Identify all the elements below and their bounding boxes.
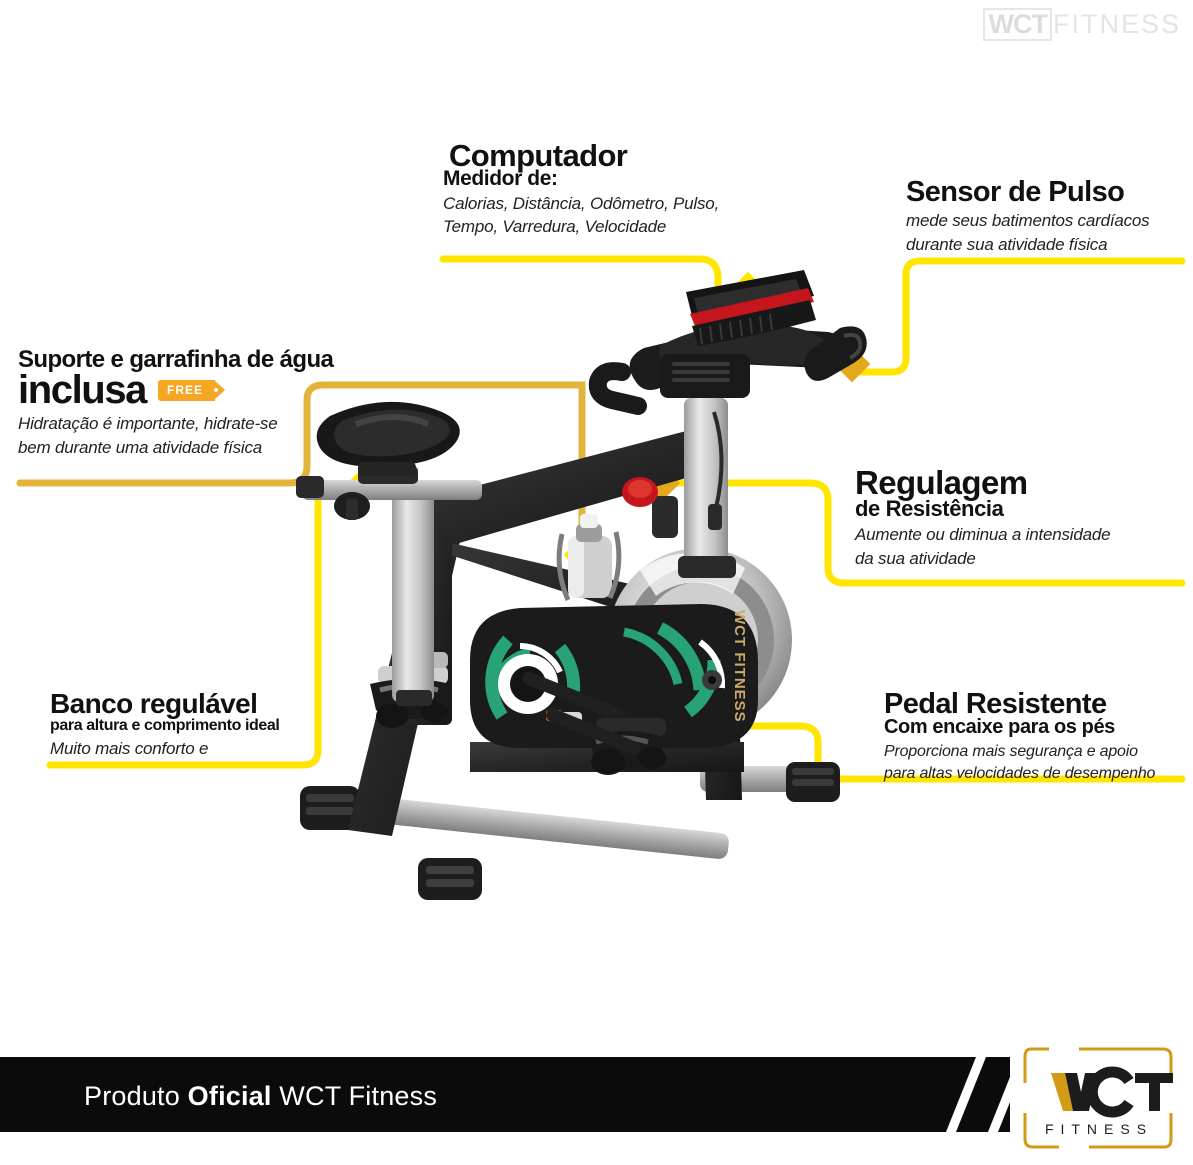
bike-frame-badge: WCT FITNESS <box>731 610 748 723</box>
callout-pedal-title: Pedal Resistente <box>884 690 1184 719</box>
callout-suporte-desc-1: Hidratação é importante, hidrate-se <box>18 413 388 434</box>
callout-pedal-subtitle: Com encaixe para os pés <box>884 717 1184 739</box>
watermark-logo-bold: WCT <box>983 8 1052 41</box>
callout-computador-desc-2: Tempo, Varredura, Velocidade <box>443 216 743 237</box>
bike-handlebar <box>598 324 867 406</box>
callout-regulagem-title: Regulagem <box>855 466 1175 499</box>
footer-text: Produto Oficial WCT Fitness <box>84 1081 437 1112</box>
marker-sensor <box>834 346 871 383</box>
footer-logo-sub: FITNESS <box>1045 1121 1153 1137</box>
connector-computador <box>443 259 718 298</box>
callout-suporte-desc-2: bem durante uma atividade física <box>18 437 388 458</box>
callout-computador-desc-1: Calorias, Distância, Odômetro, Pulso, <box>443 193 743 214</box>
svg-text:WCT FITNESS: WCT FITNESS <box>731 610 748 723</box>
bike-base-front <box>300 786 730 900</box>
callout-sensor-desc-1: mede seus batimentos cardíacos <box>906 210 1186 231</box>
bike-handle-post <box>622 398 736 578</box>
connector-sensor <box>860 261 1182 372</box>
marker-computador <box>727 272 769 314</box>
callout-banco-regulavel: Banco regulável para altura e compriment… <box>50 690 350 759</box>
callout-sensor-title: Sensor de Pulso <box>906 178 1186 207</box>
marker-banco <box>348 465 385 502</box>
bike-pedal-right <box>520 670 666 775</box>
bike-water-bottle <box>559 514 619 600</box>
bike-computer-console <box>686 270 816 346</box>
bike-frame <box>348 430 744 836</box>
infographic-page: WCT FITNESS .ly { fill:none; stroke:#FFE… <box>0 0 1193 1165</box>
callout-sensor-desc-2: durante sua atividade física <box>906 234 1186 255</box>
callout-banco-desc-1: Muito mais conforto e <box>50 738 350 759</box>
callout-banco-subtitle: para altura e comprimento ideal <box>50 717 350 734</box>
callout-regulagem-resistencia: Regulagem de Resistência Aumente ou dimi… <box>855 466 1175 569</box>
callout-computador: Computador Medidor de: Calorias, Distânc… <box>443 140 743 237</box>
callout-sensor-de-pulso: Sensor de Pulso mede seus batimentos car… <box>906 178 1186 255</box>
callout-pedal-desc-2: para altas velocidades de desempenho <box>884 764 1184 784</box>
callout-banco-title: Banco regulável <box>50 690 350 718</box>
footer: Produto Oficial WCT Fitness FITNESS <box>0 1025 1193 1165</box>
bike-pedal-left <box>370 652 642 756</box>
marker-regulagem <box>638 462 680 504</box>
callout-regulagem-desc-1: Aumente ou diminua a intensidade <box>855 524 1175 545</box>
bike-seat-post <box>296 466 482 706</box>
free-badge: FREE <box>158 380 215 401</box>
callout-suporte-highlight: inclusa <box>18 370 146 410</box>
bike-chain-guard <box>470 604 758 748</box>
callout-regulagem-desc-2: da sua atividade <box>855 548 1175 569</box>
watermark-logo: WCT FITNESS <box>983 8 1182 41</box>
footer-text-pre: Produto <box>84 1081 188 1111</box>
callout-pedal-desc-1: Proporciona mais segurança e apoio <box>884 742 1184 762</box>
footer-logo: FITNESS <box>1019 1039 1179 1157</box>
bike-flywheel <box>608 548 792 732</box>
watermark-logo-light: FITNESS <box>1053 11 1181 38</box>
footer-text-post: WCT Fitness <box>272 1081 437 1111</box>
callout-pedal-resistente: Pedal Resistente Com encaixe para os pés… <box>884 690 1184 784</box>
marker-suporte <box>564 537 601 574</box>
marker-pedal <box>622 705 664 747</box>
bike-base-rear <box>700 762 840 802</box>
footer-text-bold: Oficial <box>188 1081 272 1111</box>
callout-suporte-garrafinha: Suporte e garrafinha de água inclusa FRE… <box>18 348 388 458</box>
